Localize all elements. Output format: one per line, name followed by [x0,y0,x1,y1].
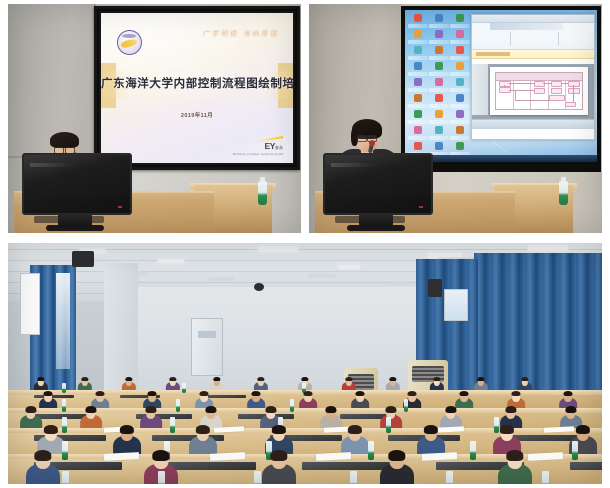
desktop-icon-label [408,104,428,108]
water-bottle [572,441,578,460]
desktop-icon-label [450,136,470,140]
desktop-icon-label [429,72,449,76]
ceiling-panel [308,273,336,278]
desktop-icon-glyph [435,46,443,54]
slide-band-right [278,63,293,108]
ceiling-panel [208,277,234,281]
attendee-hair [325,406,336,413]
ribbon-group-paragraph [560,32,595,46]
water-bottle [254,471,261,484]
attendee-hair [445,406,456,413]
attendee-hair [565,406,576,413]
desktop-icon-label [429,136,449,140]
lectern-monitor [22,153,132,215]
ey-swoosh-icon [257,136,283,142]
desktop-icon[interactable] [450,125,470,140]
attendee [26,450,60,484]
presentation-slide: 广学明德 海纳厚德 广东海洋大学内部控制流程图绘制培训 2019年11月 EY安… [101,13,293,163]
flowchart-header [496,73,582,81]
display-frame [401,6,601,172]
presenter-female-glasses [357,135,377,140]
attendee [262,450,296,484]
desktop-icon[interactable] [450,93,470,108]
desktop-icon[interactable] [408,29,428,44]
office-document-window [471,14,595,140]
flow-connector [573,85,574,102]
vertical-ruler [472,64,488,115]
water-bottle [470,441,476,460]
attendee-hair [407,391,416,396]
desktop-icon-label [408,72,428,76]
water-bottle [182,383,186,393]
water-bottle [170,417,175,433]
desktop-icon-glyph [414,94,422,102]
classroom-door [191,318,223,376]
monitor-power-led [419,206,423,208]
desktop-icon[interactable] [450,61,470,76]
water-bottle [542,471,549,484]
desktop-icon-label [450,104,470,108]
desktop-icon-glyph [414,78,422,86]
university-emblem-icon [117,30,142,55]
desktop-icon-glyph [435,30,443,38]
desktop-icon-label [408,24,428,28]
attendee-hair [265,406,276,413]
desktop-icon[interactable] [429,45,449,60]
lectern-monitor [323,153,433,215]
window-title-bar [472,15,594,23]
ceiling-lamp [528,245,568,251]
ribbon-tabs [490,23,563,30]
attendee-hair [85,406,96,413]
door-sign [198,331,216,338]
attendee-hair [388,450,405,461]
desktop-icon-label [429,88,449,92]
desktop-icon-label [450,56,470,60]
flow-connector [509,90,534,91]
water-bottle [62,441,68,460]
desktop-icon-label [450,24,470,28]
flow-connector [515,90,516,101]
desktop-icon-label [450,120,470,124]
attendee [498,450,532,484]
slide-title: 广东海洋大学内部控制流程图绘制培训 [101,75,293,91]
attendee-hair [303,391,312,396]
desktop-icon-label [450,88,470,92]
photo-audience [8,243,602,484]
window-light [56,273,70,369]
desktop-icon-label [408,136,428,140]
desktop-icon-glyph [456,110,464,118]
water-bottle [350,471,357,484]
ey-suffix: 安永 [275,145,283,150]
ceiling-lamp [158,259,184,263]
attendee-hair [196,425,210,434]
desktop-icon-glyph [414,46,422,54]
wall-speaker [428,279,442,297]
document-canvas [472,64,594,129]
desktop-icon[interactable] [429,109,449,124]
desktop-icon[interactable] [429,29,449,44]
desktop-icon[interactable] [450,13,470,28]
desktop-icon[interactable] [429,125,449,140]
flow-node [568,88,579,94]
attendee-hair [576,425,590,434]
ey-wordmark: EY安永 [233,142,283,152]
projection-screen-frame: 广学明德 海纳厚德 广东海洋大学内部控制流程图绘制培训 2019年11月 EY安… [94,6,300,170]
desktop-icon-glyph [414,14,422,22]
photo-lecture-female [309,4,602,233]
taskbar [405,155,597,162]
desktop-icon[interactable] [450,29,470,44]
water-bottle [404,399,408,412]
photo-collage: 广学明德 海纳厚德 广东海洋大学内部控制流程图绘制培训 2019年11月 EY安… [0,0,610,488]
desktop-icon-glyph [456,94,464,102]
water-bottle [559,181,568,205]
water-bottle [62,399,66,412]
desktop-icon-glyph [456,46,464,54]
desktop-icon-glyph [435,78,443,86]
flow-node [551,88,562,94]
desktop-icon[interactable] [408,61,428,76]
desktop-icon-glyph [456,30,464,38]
attendee-hair [355,391,364,396]
water-bottle [446,471,453,484]
water-bottle [368,441,374,460]
desktop-icon[interactable] [450,141,470,156]
desktop-icon[interactable] [450,109,470,124]
photo-lecture-male: 广学明德 海纳厚德 广东海洋大学内部控制流程图绘制培训 2019年11月 EY安… [8,4,301,233]
water-bottle [290,399,294,412]
flow-connector [509,83,534,84]
desk-embedded-screen [302,462,390,470]
desktop-icon-glyph [456,78,464,86]
desktop-icon-label [429,40,449,44]
attendee-hair [95,391,104,396]
attendee-hair [272,425,286,434]
desktop-icon[interactable] [429,93,449,108]
attendee-hair [270,450,287,461]
monitor-power-led [118,206,122,208]
desktop-icon-glyph [414,110,422,118]
attendee-hair [43,391,52,396]
desktop-icon[interactable] [429,61,449,76]
flow-node [568,81,579,87]
attendee-hair [385,406,396,413]
slide-band-left [101,63,116,108]
attendee-hair [34,450,51,461]
attendee-hair [506,450,523,461]
ey-logo: EY安永 Building a better working world [233,136,283,156]
desktop-icon[interactable] [429,77,449,92]
ribbon-toolbar [472,23,594,50]
desktop-icon[interactable] [408,77,428,92]
desktop-icon[interactable] [408,45,428,60]
water-bottle [62,471,69,484]
ey-tagline: Building a better working world [233,152,283,156]
desktop-icon-glyph [435,142,443,150]
flow-node [565,102,576,107]
desktop-icon-label [450,40,470,44]
attendee-hair [459,391,468,396]
flow-lane-divider [530,80,531,109]
flow-connector [504,85,505,89]
attendee-hair [120,425,134,434]
desktop-icon[interactable] [408,93,428,108]
flowchart [495,72,583,110]
desktop-icon-label [408,40,428,44]
ceiling-lamp [258,246,298,252]
ceiling-camera [254,283,264,291]
desktop-icon[interactable] [429,13,449,28]
desktop-icon-glyph [414,30,422,38]
attendee-hair [205,406,216,413]
desktop-icon-glyph [414,142,422,150]
water-bottle [386,417,391,433]
water-bottle [62,383,66,393]
slide-motto: 广学明德 海纳厚德 [202,29,280,39]
desktop-icon-glyph [456,62,464,70]
flow-node [534,88,545,94]
flow-connector [543,83,551,84]
desktop-icon-glyph [435,126,443,134]
flow-connector [561,83,569,84]
desktop-icon-grid [408,13,470,162]
attendee-hair [424,425,438,434]
attendee-hair [147,391,156,396]
desktop-icon-glyph [435,110,443,118]
desktop-icon-label [408,120,428,124]
attendee-hair [348,425,362,434]
desktop-icon-glyph [435,62,443,70]
attendee [380,450,414,484]
ceiling-speaker [72,251,94,267]
attendee-hair [511,391,520,396]
ceiling-lamp [338,265,360,269]
attendee-hair [251,391,260,396]
desktop-icon-glyph [456,142,464,150]
desktop-icon-label [450,72,470,76]
water-bottle [158,471,165,484]
desktop-icon[interactable] [450,77,470,92]
ribbon-group-clipboard [476,32,511,46]
slide-date: 2019年11月 [101,111,293,119]
desktop-icon-glyph [414,62,422,70]
attendee-hair [199,391,208,396]
ceiling-panel [388,281,412,285]
desktop-icon-label [429,120,449,124]
presenter-male-hair [50,132,79,148]
desktop-icon-label [429,56,449,60]
attendee-hair [152,450,169,461]
status-bar [472,119,594,129]
attendee-hair [145,406,156,413]
monitor-stand [58,213,92,227]
desktop-icon[interactable] [450,45,470,60]
wall-poster [20,273,40,335]
desktop-icon-label [429,104,449,108]
attendee-hair [563,391,572,396]
desktop-icon-glyph [414,126,422,134]
desktop-icon[interactable] [408,109,428,124]
desktop-icon-glyph [435,94,443,102]
attendee-hair [25,406,36,413]
flow-connector [515,100,551,101]
projector-glow [101,13,293,148]
water-bottle [176,399,180,412]
projected-desktop [405,10,597,162]
desk-embedded-screen [168,462,256,470]
desktop-icon[interactable] [408,13,428,28]
desktop-icon-glyph [456,126,464,134]
desk-embedded-screen [570,462,602,470]
desktop-icon-label [429,24,449,28]
desktop-icon-glyph [435,14,443,22]
ribbon-group-font [512,32,559,46]
desktop-icon-label [408,88,428,92]
wall-poster [444,289,468,321]
presenter-male-glasses [54,147,75,152]
attendee-hair [500,425,514,434]
document-page [490,67,588,115]
desktop-icon[interactable] [408,125,428,140]
desktop-icon-label [408,56,428,60]
desktop-icon-glyph [456,14,464,22]
attendee-hair [505,406,516,413]
water-bottle [258,181,267,205]
attendee-hair [44,425,58,434]
slide-title-band [101,71,293,99]
monitor-stand [359,213,393,227]
notification-bar [472,50,594,59]
flow-node [549,95,565,101]
